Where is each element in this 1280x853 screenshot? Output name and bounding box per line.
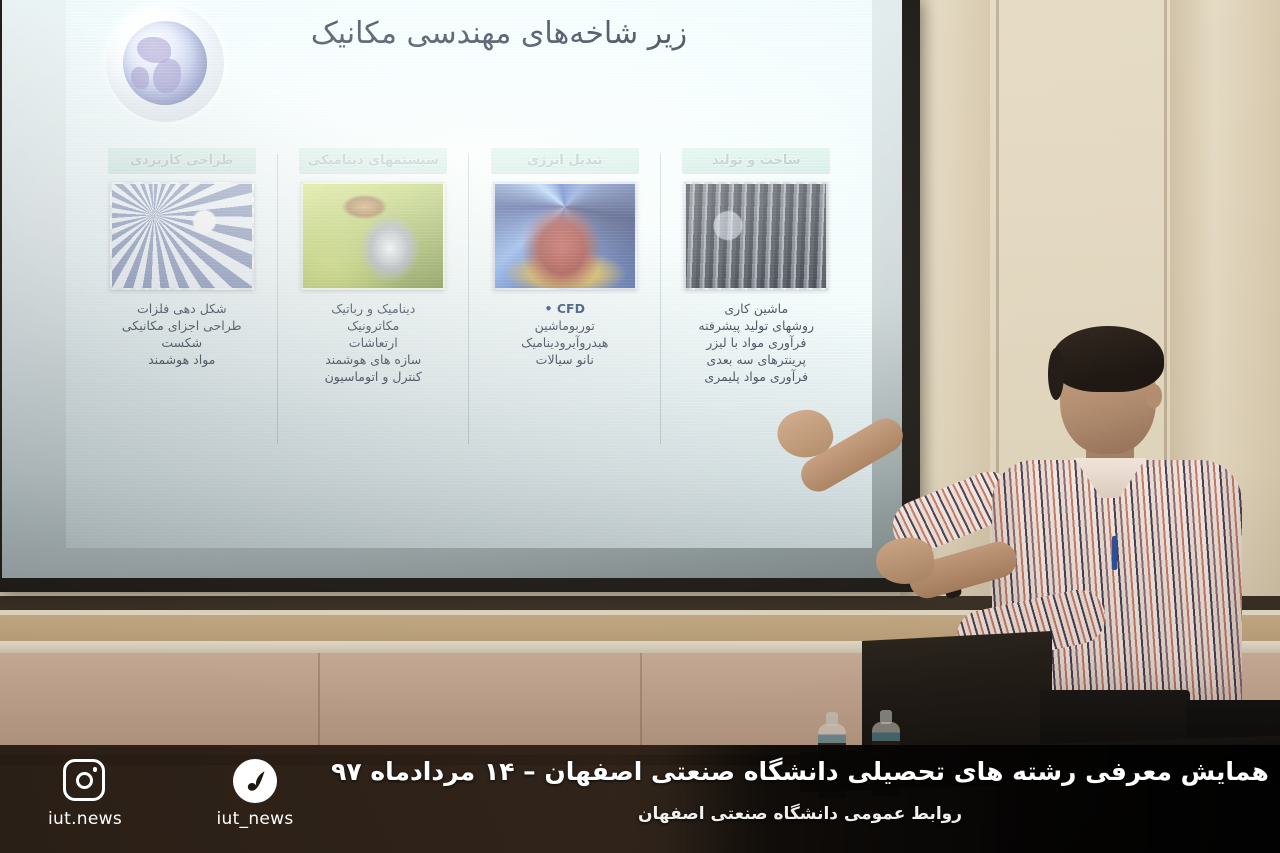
thumbnail-light-wash (495, 184, 635, 288)
list-item: دینامیک و رباتیک (284, 300, 464, 317)
list-item: • CFD (475, 300, 655, 317)
social-handle-label: iut.news (48, 809, 122, 829)
globe-landmass (131, 67, 149, 89)
slide-column: تبدیل انرژی • CFD توربوماشین هیدروآیرودی… (469, 148, 661, 468)
list-item: طراحی اجزای مکانیکی (92, 317, 272, 334)
column-thumbnail (684, 182, 828, 290)
column-divider (468, 154, 469, 444)
instagram-icon[interactable] (63, 759, 107, 803)
column-header: طراحی کاربردی (108, 148, 256, 174)
social-handle-label: iut_news (216, 809, 293, 829)
presenter-ear (1146, 384, 1162, 408)
column-thumbnail (301, 182, 445, 290)
presenter-hair (1052, 326, 1164, 392)
slide-columns: ساخت و تولید ماشین کاری روشهای تولید پیش… (86, 148, 852, 468)
presenter-pocket-pen (1112, 536, 1117, 570)
telegram-icon[interactable] (233, 759, 277, 803)
list-item: مواد هوشمند (92, 351, 272, 368)
photograph: زیر شاخه‌های مهندسی مکانیک ساخت و تولید … (0, 0, 1280, 853)
thumbnail-light-wash (112, 184, 252, 288)
column-divider (277, 154, 278, 444)
slide-column: سیستمهای دینامیکی دینامیک و رباتیک مکاتر… (278, 148, 470, 468)
list-item: هیدروآیرودینامیک (475, 334, 655, 351)
column-header: تبدیل انرژی (491, 148, 639, 174)
presentation-slide: زیر شاخه‌های مهندسی مکانیک ساخت و تولید … (66, 0, 872, 548)
caption-title: همایش معرفی رشته های تحصیلی دانشگاه صنعت… (320, 753, 1280, 791)
list-item: شکل دهی فلزات (92, 300, 272, 317)
list-item: شکست (92, 334, 272, 351)
thumbnail-light-wash (686, 184, 826, 288)
social-handles: iut_news iut.news (26, 759, 314, 829)
column-item-list: دینامیک و رباتیک مکاترونیک ارتعاشات سازه… (284, 300, 464, 385)
caption-bar: همایش معرفی رشته های تحصیلی دانشگاه صنعت… (0, 745, 1280, 853)
instagram-lens (76, 772, 93, 789)
column-divider (660, 154, 661, 444)
list-item: سازه های هوشمند (284, 351, 464, 368)
social-instagram[interactable]: iut.news (26, 759, 144, 829)
list-item: ارتعاشات (284, 334, 464, 351)
slide-title: زیر شاخه‌های مهندسی مکانیک (66, 16, 872, 51)
list-item: توربوماشین (475, 317, 655, 334)
column-thumbnail (493, 182, 637, 290)
thumbnail-light-wash (303, 184, 443, 288)
column-item-list: شکل دهی فلزات طراحی اجزای مکانیکی شکست م… (92, 300, 272, 368)
column-header: ساخت و تولید (682, 148, 830, 174)
column-item-list: • CFD توربوماشین هیدروآیرودینامیک نانو س… (475, 300, 655, 368)
instagram-dot (93, 767, 98, 772)
globe-landmass (153, 59, 181, 93)
caption-text-block: همایش معرفی رشته های تحصیلی دانشگاه صنعت… (320, 753, 1280, 827)
list-item: کنترل و اتوماسیون (284, 368, 464, 385)
column-thumbnail (110, 182, 254, 290)
list-item: مکاترونیک (284, 317, 464, 334)
social-telegram[interactable]: iut_news (196, 759, 314, 829)
caption-subtitle: روابط عمومی دانشگاه صنعتی اصفهان (320, 801, 1280, 827)
slide-column: طراحی کاربردی شکل دهی فلزات طراحی اجزای … (86, 148, 278, 468)
column-header: سیستمهای دینامیکی (299, 148, 447, 174)
list-item: نانو سیالات (475, 351, 655, 368)
